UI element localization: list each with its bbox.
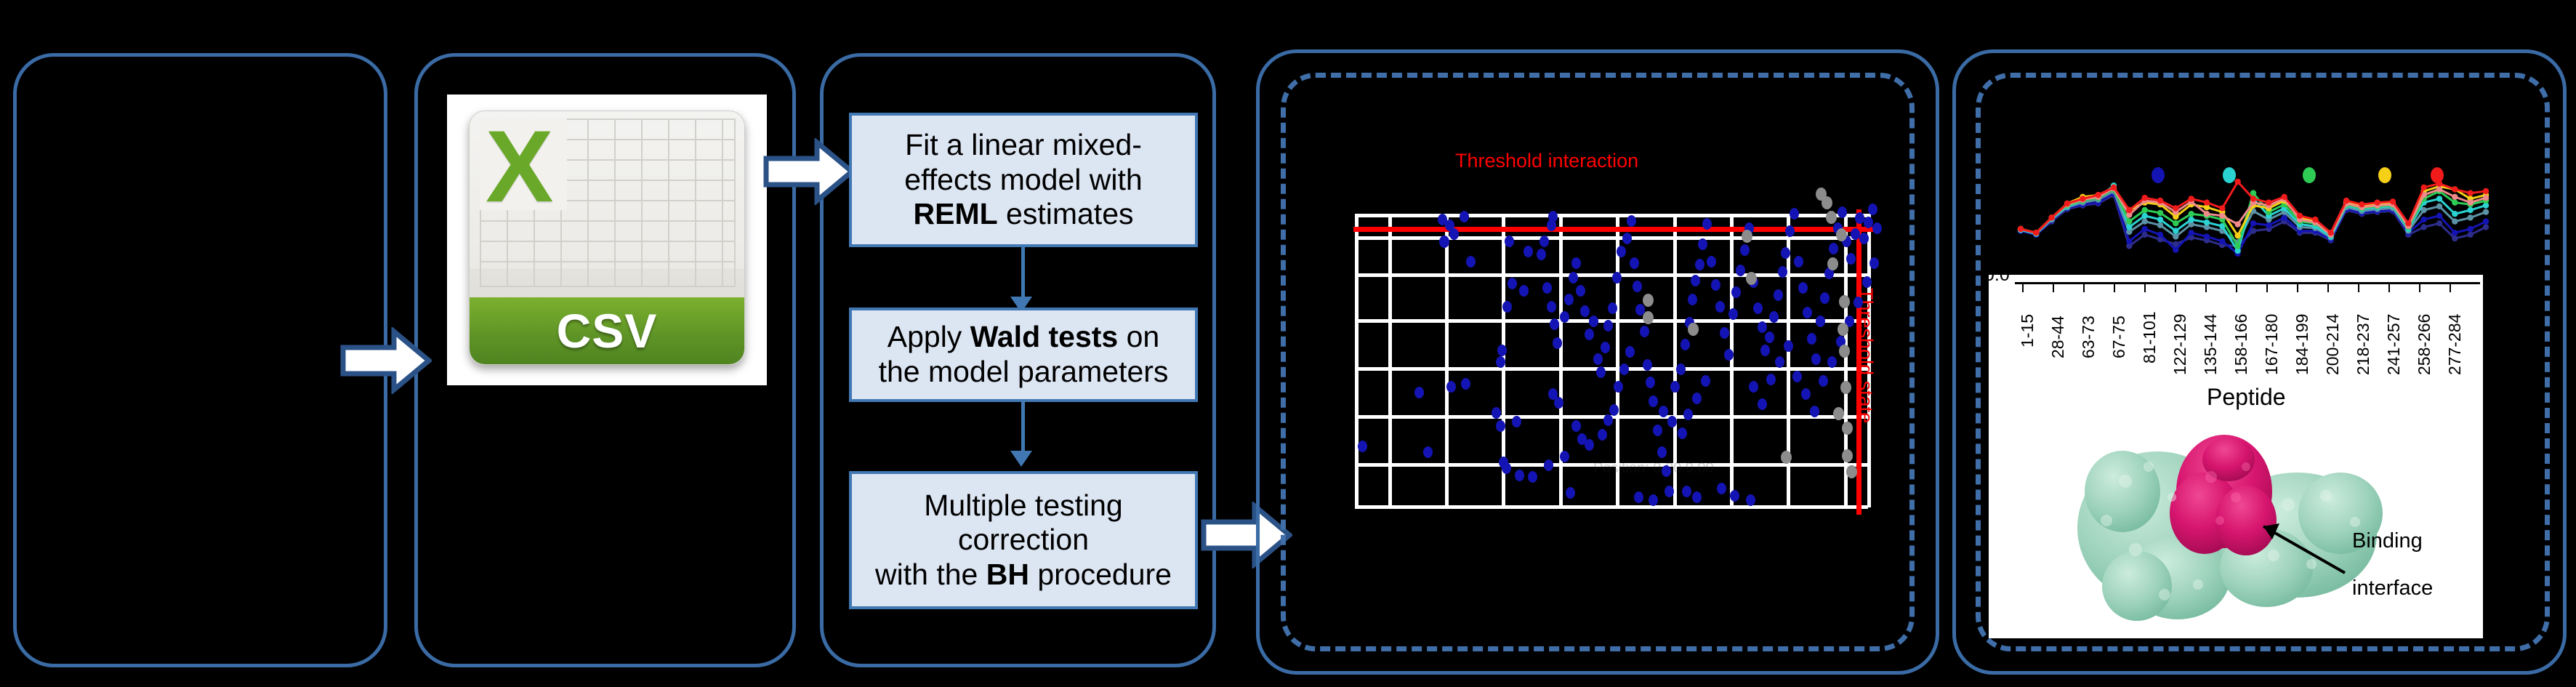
connector-wald-bh	[1021, 402, 1025, 457]
series-point-navy	[2420, 224, 2426, 230]
peptide-tick-label: 67-75	[2109, 316, 2129, 358]
series-point-red	[2467, 190, 2473, 196]
series-point-navy	[2436, 220, 2442, 226]
csv-file-card: X CSV	[447, 95, 767, 385]
series-point-navy	[2483, 224, 2489, 230]
series-point-steel	[2141, 218, 2147, 224]
series-point-blue	[2173, 246, 2178, 252]
series-point-steel	[2436, 204, 2442, 209]
arrow-csv-to-model	[763, 138, 855, 205]
legend-dot-green	[2303, 167, 2316, 183]
series-point-green	[2141, 207, 2147, 213]
peptide-tick-label: 277-284	[2445, 314, 2465, 375]
peptide-tick-label: 200-214	[2323, 314, 2343, 375]
step-wald-line2: the model parameters	[879, 355, 1169, 388]
series-point-cyan	[2467, 207, 2473, 213]
scatter-plot[interactable]: Threshold interaction Threshold state Po…	[1353, 166, 1891, 507]
series-point-red	[2219, 205, 2225, 211]
series-point-blue	[2467, 226, 2473, 232]
step-bh-post: procedure	[1029, 558, 1172, 591]
series-point-red	[2111, 185, 2117, 190]
peptide-tick-label: 184-199	[2293, 314, 2312, 375]
series-point-blue	[2452, 230, 2458, 236]
series-point-blue	[2436, 213, 2442, 219]
csv-x-letter: X	[486, 116, 553, 217]
peptide-tick-label: 241-257	[2384, 314, 2404, 375]
peptide-figure-card: 0.0 1-15 28-44 63-73 67-75 81-101 122-12…	[1989, 275, 2483, 638]
legend-dot-red	[2431, 167, 2444, 183]
peptide-tick-label: 258-266	[2415, 314, 2434, 375]
arrow-input-to-csv	[340, 327, 432, 394]
series-point-red	[2405, 220, 2411, 226]
series-point-pink	[2204, 211, 2210, 217]
series-point-cyan	[2452, 211, 2458, 217]
peptide-tick-label: 167-180	[2262, 314, 2282, 375]
series-point-blue	[2250, 220, 2256, 226]
series-point-pink	[2234, 221, 2240, 227]
series-point-red	[2064, 201, 2070, 206]
binding-interface-line2: interface	[2352, 576, 2433, 600]
workflow-diagram: X CSV Fit a linear mixed- effects model …	[0, 0, 2576, 687]
step-wald-pre: Apply	[887, 320, 970, 353]
legend-dot-yellow	[2378, 167, 2391, 183]
series-point-red	[2141, 195, 2147, 201]
series-point-steel	[2483, 209, 2489, 214]
step-bh-pre: with the	[875, 558, 986, 591]
series-point-red	[2297, 213, 2303, 219]
csv-format-band: CSV	[470, 297, 744, 364]
panel-input	[13, 53, 387, 667]
scatter-position-readout: Position: 0.00 0.00	[1593, 460, 1714, 477]
peptide-tick-label: 218-237	[2354, 314, 2373, 375]
series-point-red	[2250, 196, 2256, 201]
step-reml-line3-rest: estimates	[998, 197, 1134, 230]
series-point-red	[2420, 185, 2426, 190]
step-reml-line2: effects model with	[904, 163, 1142, 196]
series-point-cyan	[2173, 228, 2178, 233]
step-reml-strong: REML	[914, 197, 998, 230]
peptide-tick-label: 135-144	[2201, 314, 2221, 375]
series-point-steel	[2452, 218, 2458, 224]
series-point-green	[2188, 211, 2194, 217]
series-point-green	[2234, 243, 2240, 249]
series-point-red	[2048, 214, 2054, 220]
series-point-red	[2126, 207, 2132, 213]
series-point-blue	[2157, 232, 2163, 238]
step-bh-strong: BH	[986, 558, 1029, 591]
series-point-red	[2173, 205, 2178, 211]
series-point-blue	[2219, 238, 2225, 244]
csv-format-label: CSV	[557, 303, 658, 358]
legend-dot-blue	[2152, 167, 2165, 183]
peptide-tick-label: 28-44	[2048, 316, 2068, 358]
step-bh-line2: correction	[958, 523, 1089, 556]
series-point-red	[2359, 201, 2364, 207]
series-point-pink	[2467, 199, 2473, 205]
series-point-red	[2483, 188, 2489, 194]
series-point-cyan	[2157, 217, 2163, 222]
peptide-tick-label: 122-129	[2170, 314, 2190, 375]
series-point-blue	[2420, 217, 2426, 222]
peptide-tick-label: 63-73	[2079, 316, 2098, 358]
step-bh-line1: Multiple testing	[924, 489, 1122, 522]
series-point-red	[2374, 199, 2380, 205]
step-box-reml[interactable]: Fit a linear mixed- effects model with R…	[849, 113, 1198, 247]
step-reml-line1: Fit a linear mixed-	[905, 128, 1142, 161]
series-point-red	[2188, 196, 2194, 201]
series-point-blue	[2141, 226, 2147, 232]
series-point-steel	[2157, 222, 2163, 228]
gridline-h	[1355, 505, 1868, 509]
series-point-navy	[2467, 232, 2473, 238]
series-point-blue	[2126, 238, 2132, 244]
series-point-red	[2234, 179, 2240, 185]
series-point-red	[2018, 226, 2024, 232]
connector-wald-bh-head	[1010, 451, 1032, 467]
series-point-red	[2157, 198, 2163, 204]
series-point-green	[2452, 199, 2458, 205]
series-point-red	[2266, 199, 2271, 205]
peptide-tick-label: 1-15	[2018, 314, 2037, 347]
series-point-green	[2126, 218, 2132, 224]
binding-interface-callout: Binding interface	[2352, 506, 2433, 600]
series-point-red	[2033, 230, 2039, 236]
series-point-navy	[2141, 232, 2147, 238]
gridline-h	[1355, 273, 1868, 277]
threshold-interaction-line	[1353, 227, 1874, 232]
x-axis-line	[2015, 282, 2480, 284]
series-point-red	[2281, 194, 2287, 200]
series-point-red	[2204, 199, 2210, 205]
series-point-red	[2080, 196, 2085, 201]
step-wald-strong: Wald tests	[970, 320, 1119, 353]
y-axis-tick-0: 0.0	[1989, 275, 2010, 286]
series-point-steel	[2173, 233, 2178, 239]
csv-file-icon: X CSV	[469, 111, 745, 365]
series-point-red	[2390, 198, 2396, 204]
protein-structure-image	[2056, 411, 2397, 630]
series-point-red	[2095, 192, 2101, 198]
series-point-blue	[2188, 230, 2194, 236]
step-box-bh[interactable]: Multiple testing correction with the BH …	[849, 471, 1198, 609]
series-point-cyan	[2204, 220, 2210, 225]
x-axis-caption: Peptide	[2207, 384, 2286, 411]
series-point-navy	[2452, 236, 2458, 241]
series-point-pink	[2483, 195, 2489, 201]
series-point-cyan	[2141, 213, 2147, 219]
series-point-blue	[2204, 233, 2210, 239]
series-point-cyan	[2188, 217, 2194, 222]
peptide-tick-label: 158-166	[2231, 314, 2251, 375]
series-point-pink	[2436, 186, 2442, 192]
series-point-pink	[2452, 194, 2458, 200]
series-point-red	[2327, 230, 2333, 236]
connector-reml-wald	[1021, 247, 1025, 302]
series-point-red	[2312, 217, 2318, 222]
series-point-red	[2343, 198, 2349, 204]
gridline-h	[1355, 367, 1868, 371]
scatter-threshold-interaction-label: Threshold interaction	[1455, 150, 1638, 172]
series-point-pink	[2219, 213, 2225, 219]
series-point-green	[2157, 210, 2163, 216]
legend-dot-cyan	[2223, 167, 2236, 183]
series-point-steel	[2467, 214, 2473, 220]
step-wald-post: on	[1118, 320, 1159, 353]
series-point-red	[2452, 186, 2458, 192]
series-point-blue	[2483, 218, 2489, 224]
series-point-yellow	[2234, 233, 2240, 238]
step-box-wald[interactable]: Apply Wald tests on the model parameters	[849, 308, 1198, 402]
binding-interface-line1: Binding	[2352, 529, 2423, 553]
series-point-green	[2173, 220, 2178, 226]
peptide-line-chart[interactable]	[2013, 158, 2493, 260]
series-point-cyan	[2126, 224, 2132, 230]
series-point-cyan	[2436, 196, 2442, 201]
series-point-blue	[2266, 222, 2271, 228]
peptide-tick-label: 81-101	[2140, 311, 2160, 363]
